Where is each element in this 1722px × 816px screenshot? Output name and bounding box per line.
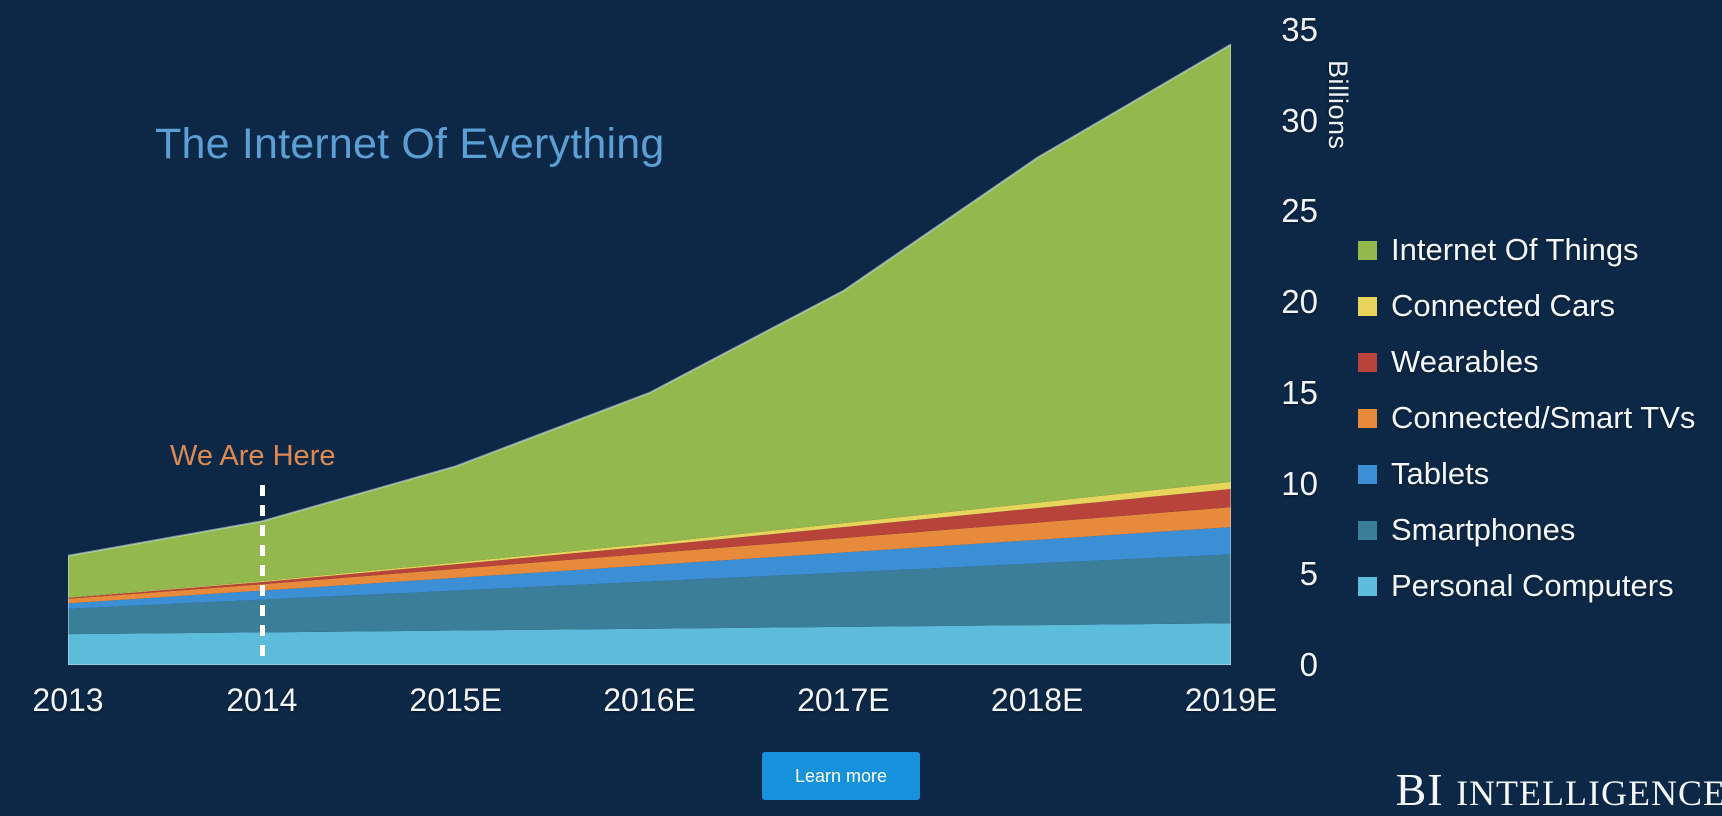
y-axis-tick: 25	[1254, 192, 1318, 230]
legend-item[interactable]: Personal Computers	[1358, 558, 1695, 614]
y-axis-tick: 15	[1254, 374, 1318, 412]
y-axis-tick: 10	[1254, 465, 1318, 503]
x-axis-tick: 2013	[32, 682, 103, 719]
logo-word: INTELLIGENCE	[1456, 773, 1722, 813]
legend-swatch-icon	[1358, 521, 1377, 540]
legend-item[interactable]: Internet Of Things	[1358, 222, 1695, 278]
x-axis-tick: 2017E	[797, 682, 890, 719]
plot-svg	[68, 30, 1231, 665]
legend-swatch-icon	[1358, 241, 1377, 260]
stacked-area-plot	[68, 30, 1231, 665]
y-axis-tick: 5	[1254, 555, 1318, 593]
legend-item[interactable]: Connected/Smart TVs	[1358, 390, 1695, 446]
legend-swatch-icon	[1358, 577, 1377, 596]
legend-swatch-icon	[1358, 353, 1377, 372]
legend-label: Internet Of Things	[1391, 232, 1639, 268]
legend-label: Wearables	[1391, 344, 1539, 380]
y-axis-tick: 35	[1254, 11, 1318, 49]
legend-swatch-icon	[1358, 409, 1377, 428]
x-axis-tick: 2015E	[409, 682, 502, 719]
legend-label: Smartphones	[1391, 512, 1575, 548]
logo-prefix: BI	[1396, 764, 1444, 815]
legend-label: Connected Cars	[1391, 288, 1615, 324]
chart-slide: The Internet Of Everything We Are Here 0…	[0, 0, 1722, 812]
we-are-here-annotation: We Are Here	[170, 440, 335, 473]
legend-item[interactable]: Wearables	[1358, 334, 1695, 390]
y-axis-title: Billions	[1322, 60, 1353, 150]
y-axis-tick: 20	[1254, 283, 1318, 321]
bi-intelligence-logo: BI INTELLIGENCE	[1396, 763, 1722, 816]
we-are-here-marker-line	[260, 485, 265, 663]
x-axis-tick: 2014	[226, 682, 297, 719]
y-axis-tick: 30	[1254, 102, 1318, 140]
legend: Internet Of ThingsConnected CarsWearable…	[1358, 222, 1695, 614]
learn-more-button[interactable]: Learn more	[762, 752, 920, 800]
x-axis-tick: 2019E	[1185, 682, 1278, 719]
x-axis-tick: 2018E	[991, 682, 1084, 719]
x-axis: 201320142015E2016E2017E2018E2019E	[0, 682, 1260, 730]
legend-swatch-icon	[1358, 465, 1377, 484]
legend-item[interactable]: Smartphones	[1358, 502, 1695, 558]
legend-label: Tablets	[1391, 456, 1489, 492]
legend-label: Personal Computers	[1391, 568, 1674, 604]
legend-label: Connected/Smart TVs	[1391, 400, 1695, 436]
y-axis-tick: 0	[1254, 646, 1318, 684]
legend-item[interactable]: Connected Cars	[1358, 278, 1695, 334]
legend-swatch-icon	[1358, 297, 1377, 316]
legend-item[interactable]: Tablets	[1358, 446, 1695, 502]
x-axis-tick: 2016E	[603, 682, 696, 719]
y-axis: 05101520253035	[1248, 0, 1318, 700]
